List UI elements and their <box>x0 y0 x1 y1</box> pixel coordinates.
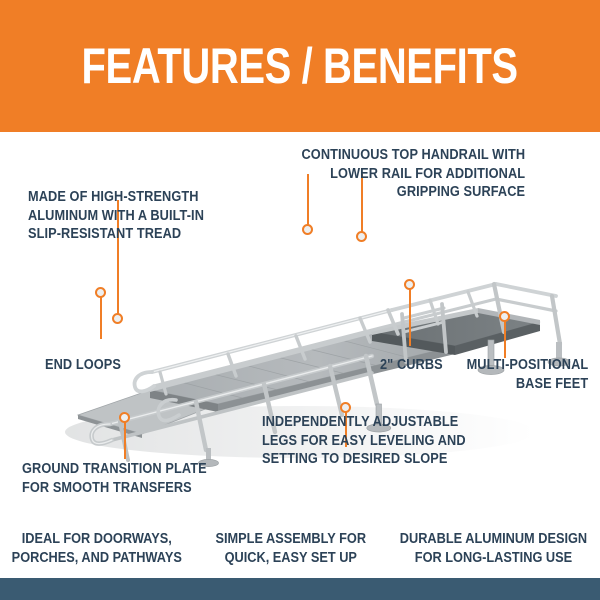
illustration-stage: MADE OF HIGH-STRENGTH ALUMINUM WITH A BU… <box>0 132 600 520</box>
marker-dot-aluminum <box>112 313 123 324</box>
benefit-line: IDEAL FOR DOORWAYS, <box>12 530 182 549</box>
callout-line: LEGS FOR EASY LEVELING AND <box>262 432 466 451</box>
marker-dot-legs <box>340 402 351 413</box>
benefit-durable-aluminum-design: DURABLE ALUMINUM DESIGN FOR LONG-LASTING… <box>400 530 587 568</box>
page-header: FEATURES / BENEFITS <box>0 0 600 132</box>
callout-made-of-high-strength-aluminum: MADE OF HIGH-STRENGTH ALUMINUM WITH A BU… <box>28 188 204 244</box>
callout-line: SETTING TO DESIRED SLOPE <box>262 450 466 469</box>
callout-continuous-top-handrail: CONTINUOUS TOP HANDRAIL WITH LOWER RAIL … <box>301 146 525 202</box>
benefit-line: DURABLE ALUMINUM DESIGN <box>400 530 587 549</box>
marker-dot-base-feet <box>499 311 510 322</box>
callout-line: BASE FEET <box>466 375 588 394</box>
marker-dot-end-loops <box>95 287 106 298</box>
callout-two-inch-curbs: 2" CURBS <box>380 356 443 375</box>
callout-multi-positional-base-feet: MULTI-POSITIONAL BASE FEET <box>466 356 588 393</box>
callout-line: 2" CURBS <box>380 356 443 375</box>
callout-line: GROUND TRANSITION PLATE <box>22 460 207 479</box>
marker-dot-transition <box>119 412 130 423</box>
callout-ground-transition-plate: GROUND TRANSITION PLATE FOR SMOOTH TRANS… <box>22 460 207 497</box>
benefit-simple-assembly: SIMPLE ASSEMBLY FOR QUICK, EASY SET UP <box>205 530 375 568</box>
footer-bar <box>0 578 600 600</box>
callout-line: LOWER RAIL FOR ADDITIONAL <box>301 165 525 184</box>
callout-line: MADE OF HIGH-STRENGTH <box>28 188 204 207</box>
leader-line-end-loops <box>100 292 102 339</box>
callout-end-loops: END LOOPS <box>45 356 121 375</box>
callout-independently-adjustable-legs: INDEPENDENTLY ADJUSTABLE LEGS FOR EASY L… <box>262 413 466 469</box>
leader-line-curbs <box>409 284 411 346</box>
leader-line-base-feet <box>504 316 506 358</box>
callout-line: CONTINUOUS TOP HANDRAIL WITH <box>301 146 525 165</box>
leader-line-transition <box>124 417 126 459</box>
benefit-line: QUICK, EASY SET UP <box>205 549 375 568</box>
callout-line: SLIP-RESISTANT TREAD <box>28 225 204 244</box>
marker-dot-curbs <box>404 279 415 290</box>
marker-dot-handrail-2 <box>356 231 367 242</box>
marker-dot-handrail-1 <box>302 224 313 235</box>
benefit-line: PORCHES, AND PATHWAYS <box>12 549 182 568</box>
callout-line: GRIPPING SURFACE <box>301 183 525 202</box>
callout-line: MULTI-POSITIONAL <box>466 356 588 375</box>
page-title: FEATURES / BENEFITS <box>82 41 518 91</box>
benefits-row: IDEAL FOR DOORWAYS, PORCHES, AND PATHWAY… <box>0 520 600 578</box>
benefit-ideal-for-doorways: IDEAL FOR DOORWAYS, PORCHES, AND PATHWAY… <box>12 530 182 568</box>
callout-line: INDEPENDENTLY ADJUSTABLE <box>262 413 466 432</box>
callout-line: ALUMINUM WITH A BUILT-IN <box>28 207 204 226</box>
callout-line: FOR SMOOTH TRANSFERS <box>22 479 207 498</box>
callout-line: END LOOPS <box>45 356 121 375</box>
benefit-line: SIMPLE ASSEMBLY FOR <box>205 530 375 549</box>
benefit-line: FOR LONG-LASTING USE <box>400 549 587 568</box>
